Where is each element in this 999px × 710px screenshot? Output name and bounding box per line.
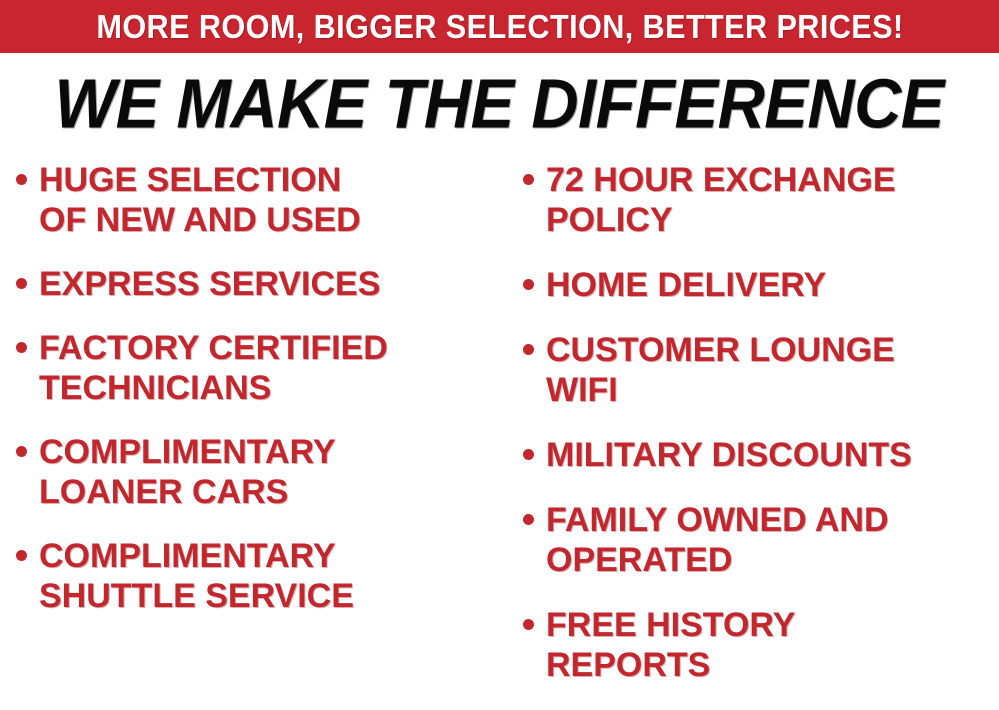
banner-headline-text: MORE ROOM, BIGGER SELECTION, BETTER PRIC…: [96, 10, 903, 43]
headline-container: WE MAKE THE DIFFERENCE: [0, 62, 999, 144]
list-item: COMPLIMENTARY LOANER CARS: [16, 432, 499, 512]
list-item: 72 HOUR EXCHANGE POLICY: [523, 160, 997, 240]
bullet-dot-icon: [16, 550, 27, 561]
list-item-label: HUGE SELECTION OF NEW AND USED: [39, 160, 361, 240]
list-item-label: FREE HISTORY REPORTS: [546, 605, 795, 685]
list-item-label: FAMILY OWNED AND OPERATED: [546, 500, 889, 580]
bullet-dot-icon: [16, 278, 27, 289]
bullet-dot-icon: [523, 344, 534, 355]
list-item: COMPLIMENTARY SHUTTLE SERVICE: [16, 536, 499, 616]
bullet-dot-icon: [16, 174, 27, 185]
list-item: MILITARY DISCOUNTS: [523, 435, 997, 475]
list-item: CUSTOMER LOUNGE WIFI: [523, 330, 997, 410]
list-item-label: FACTORY CERTIFIED TECHNICIANS: [39, 328, 388, 408]
features-column-right: 72 HOUR EXCHANGE POLICY HOME DELIVERY CU…: [505, 160, 999, 710]
main-headline: WE MAKE THE DIFFERENCE: [55, 68, 944, 138]
features-columns: HUGE SELECTION OF NEW AND USED EXPRESS S…: [0, 160, 999, 692]
list-item-label: 72 HOUR EXCHANGE POLICY: [546, 160, 896, 240]
list-item-label: COMPLIMENTARY LOANER CARS: [39, 432, 336, 512]
bullet-dot-icon: [523, 174, 534, 185]
list-item-label: MILITARY DISCOUNTS: [546, 435, 912, 475]
list-item: EXPRESS SERVICES: [16, 264, 499, 304]
list-item-label: CUSTOMER LOUNGE WIFI: [546, 330, 895, 410]
list-item-label: COMPLIMENTARY SHUTTLE SERVICE: [39, 536, 354, 616]
bullet-dot-icon: [16, 446, 27, 457]
list-item: HUGE SELECTION OF NEW AND USED: [16, 160, 499, 240]
bullet-dot-icon: [523, 619, 534, 630]
list-item-label: HOME DELIVERY: [546, 265, 826, 305]
bullet-dot-icon: [523, 279, 534, 290]
bullet-dot-icon: [523, 514, 534, 525]
list-item: FAMILY OWNED AND OPERATED: [523, 500, 997, 580]
list-item-label: EXPRESS SERVICES: [39, 264, 380, 304]
promotional-poster: MORE ROOM, BIGGER SELECTION, BETTER PRIC…: [0, 0, 999, 692]
features-column-left: HUGE SELECTION OF NEW AND USED EXPRESS S…: [0, 160, 505, 640]
bullet-dot-icon: [523, 449, 534, 460]
list-item: HOME DELIVERY: [523, 265, 997, 305]
list-item: FREE HISTORY REPORTS: [523, 605, 997, 685]
top-banner: MORE ROOM, BIGGER SELECTION, BETTER PRIC…: [0, 0, 999, 53]
list-item: FACTORY CERTIFIED TECHNICIANS: [16, 328, 499, 408]
bullet-dot-icon: [16, 342, 27, 353]
